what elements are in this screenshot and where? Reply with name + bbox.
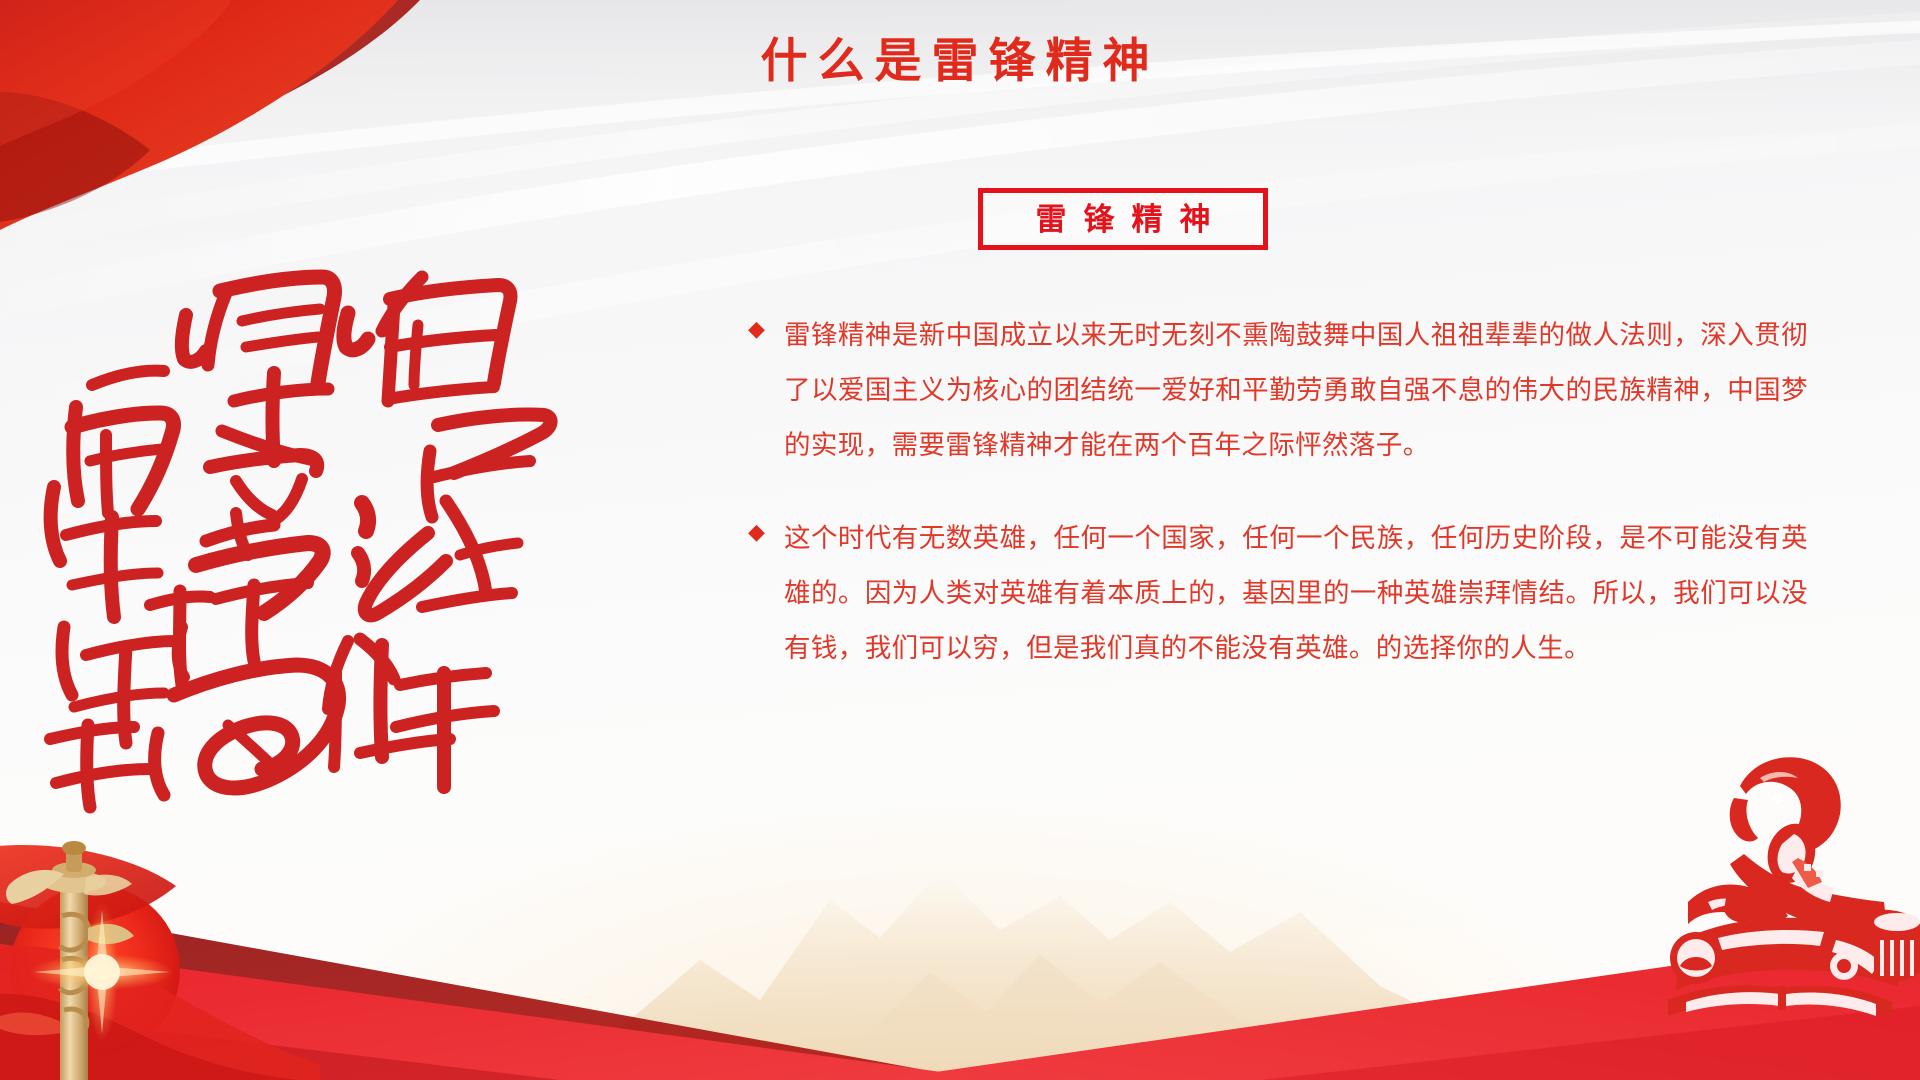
- page-title: 什么是雷锋精神: [0, 22, 1920, 91]
- paragraph-text: 雷锋精神是新中国成立以来无时无刻不熏陶鼓舞中国人祖祖辈辈的做人法则，深入贯彻了以…: [784, 308, 1808, 473]
- paragraph-item: ◆ 雷锋精神是新中国成立以来无时无刻不熏陶鼓舞中国人祖祖辈辈的做人法则，深入贯彻…: [748, 308, 1808, 473]
- section-heading-box: 雷锋精神: [978, 188, 1268, 250]
- lei-feng-figure-graphic: [1648, 742, 1920, 1042]
- paragraph-item: ◆ 这个时代有无数英雄，任何一个国家，任何一个民族，任何历史阶段，是不可能没有英…: [748, 511, 1808, 676]
- calligraphy-artwork: [30, 255, 590, 835]
- body-text-block: ◆ 雷锋精神是新中国成立以来无时无刻不熏陶鼓舞中国人祖祖辈辈的做人法则，深入贯彻…: [748, 308, 1808, 676]
- diamond-bullet-icon: ◆: [748, 511, 784, 543]
- paragraph-text: 这个时代有无数英雄，任何一个国家，任何一个民族，任何历史阶段，是不可能没有英雄的…: [784, 511, 1808, 676]
- diamond-bullet-icon: ◆: [748, 308, 784, 340]
- huabiao-graphic: [0, 820, 320, 1080]
- lei-feng-papercut-illustration: [1648, 742, 1920, 1042]
- calligraphy-strokes: [30, 255, 590, 835]
- slide-root: 什么是雷锋精神 雷锋精神 ◆ 雷锋精神是新中国成立以来无时无刻不熏陶鼓舞中国人祖…: [0, 0, 1920, 1080]
- huabiao-column-ornament: [0, 820, 320, 1080]
- section-heading-label: 雷锋精神: [1019, 204, 1228, 235]
